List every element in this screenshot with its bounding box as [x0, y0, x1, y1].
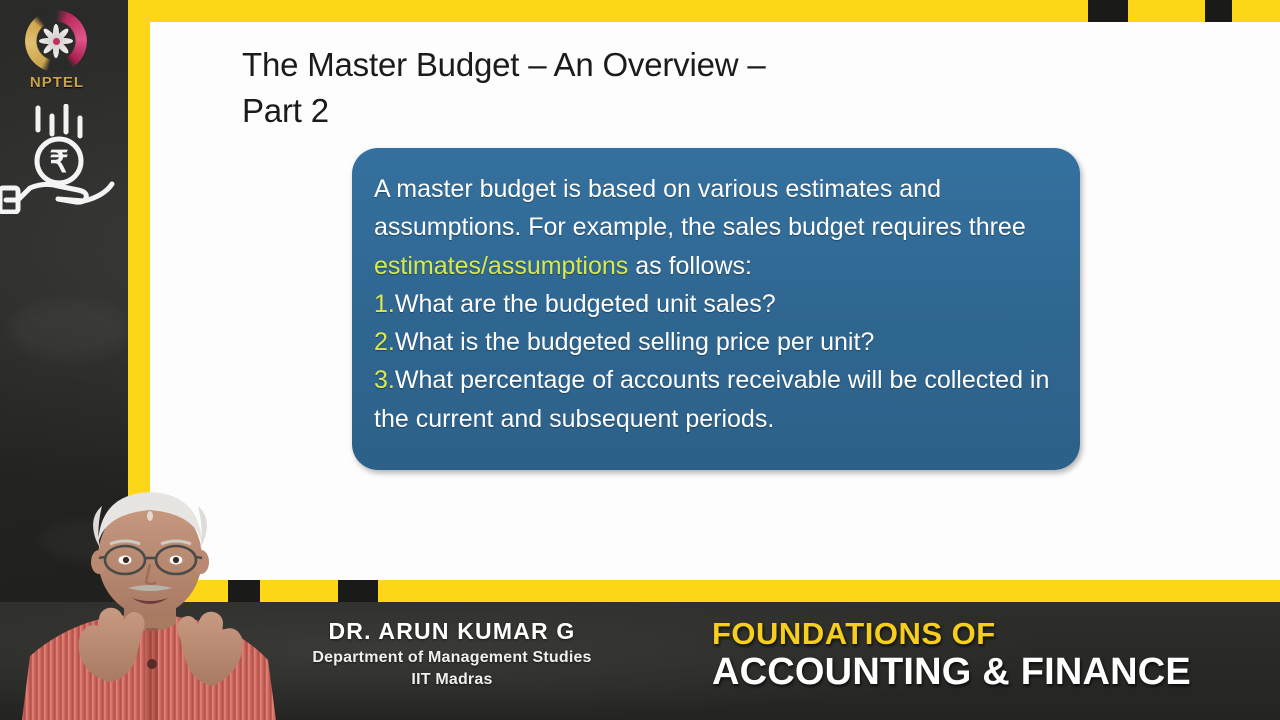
nptel-wordmark: NPTEL	[17, 74, 97, 91]
list-item-text: What is the budgeted selling price per u…	[395, 328, 874, 356]
hand-holding-coin-icon: ₹	[0, 104, 120, 214]
page-title-line2: Part 2	[242, 92, 329, 129]
slide-surface: The Master Budget – An Overview – Part 2…	[150, 22, 1280, 580]
nptel-logo: NPTEL	[17, 6, 97, 96]
list-item-number: 2.	[374, 328, 395, 356]
callout-highlight: estimates/assumptions	[374, 252, 628, 280]
frame-bottom-gap-2	[338, 580, 378, 602]
list-item: 3.What percentage of accounts receivable…	[374, 361, 1056, 438]
frame-top-gap-1	[1088, 0, 1128, 22]
callout-list: 1.What are the budgeted unit sales? 2.Wh…	[374, 285, 1056, 438]
list-item-text: What are the budgeted unit sales?	[395, 290, 776, 318]
list-item-text: What percentage of accounts receivable w…	[374, 366, 1049, 432]
lecture-backdrop: NPTEL ₹ Th	[0, 0, 1280, 720]
callout-intro-part1: A master budget is based on various esti…	[374, 175, 1026, 241]
course-title: FOUNDATIONS OF ACCOUNTING & FINANCE	[712, 616, 1191, 694]
list-item: 2.What is the budgeted selling price per…	[374, 323, 1056, 361]
nptel-branding-column: NPTEL ₹	[0, 0, 130, 470]
list-item: 1.What are the budgeted unit sales?	[374, 285, 1056, 323]
presenter-video	[0, 478, 312, 720]
list-item-number: 3.	[374, 366, 395, 394]
course-title-line2: ACCOUNTING & FINANCE	[712, 651, 1191, 694]
callout-intro: A master budget is based on various esti…	[374, 170, 1056, 285]
page-title-line1: The Master Budget – An Overview –	[242, 46, 766, 83]
list-item-number: 1.	[374, 290, 395, 318]
page-title: The Master Budget – An Overview – Part 2	[242, 42, 1002, 133]
callout-intro-part2: as follows:	[628, 252, 752, 280]
callout-box: A master budget is based on various esti…	[352, 148, 1080, 470]
course-title-line1: FOUNDATIONS OF	[712, 616, 1191, 652]
svg-text:₹: ₹	[49, 146, 68, 179]
nptel-flower-icon	[38, 23, 74, 59]
frame-top-gap-2	[1205, 0, 1232, 22]
